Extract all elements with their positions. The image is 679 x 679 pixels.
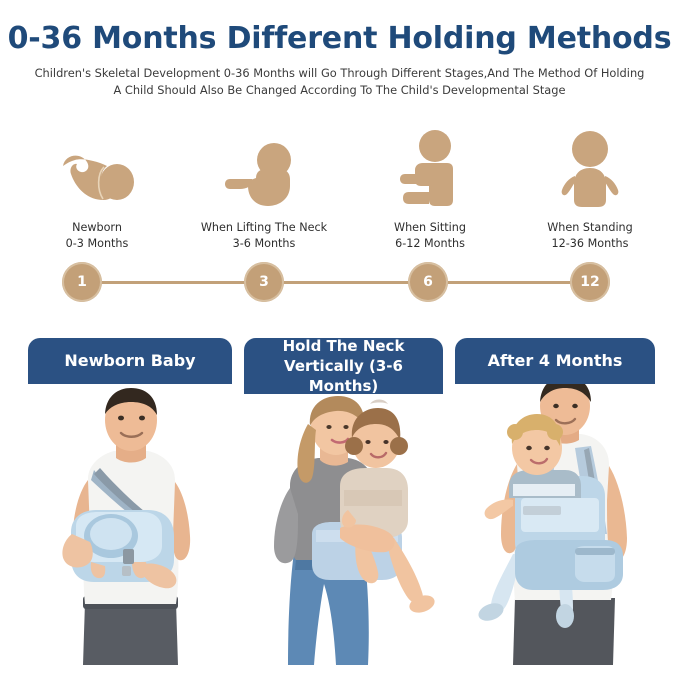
card-title-line2: Vertically (3-6 Months)	[284, 357, 403, 395]
card-hold-neck-vertically[interactable]: Hold The Neck Vertically (3-6 Months)	[244, 338, 443, 665]
stage-label: When Sitting 6-12 Months	[345, 220, 515, 251]
stage-label-line2: 6-12 Months	[395, 237, 465, 250]
stage-label-line2: 0-3 Months	[66, 237, 129, 250]
timeline-marker-6[interactable]: 6	[408, 262, 448, 302]
stage-lifting-neck: When Lifting The Neck 3-6 Months	[179, 132, 349, 251]
baby-standing-icon	[505, 132, 675, 208]
stage-sitting: When Sitting 6-12 Months	[345, 132, 515, 251]
stage-label-line1: When Lifting The Neck	[201, 221, 327, 234]
stage-label-line1: When Standing	[547, 221, 633, 234]
stage-label-line2: 12-36 Months	[552, 237, 629, 250]
baby-lifting-head-icon	[179, 132, 349, 208]
stage-label-line1: When Sitting	[394, 221, 466, 234]
father-holding-newborn-in-sling-carrier-photo	[28, 384, 232, 665]
stage-label-line2: 3-6 Months	[233, 237, 296, 250]
page-subtitle: Children's Skeletal Development 0-36 Mon…	[31, 56, 649, 99]
stage-label: Newborn 0-3 Months	[12, 220, 182, 251]
card-newborn-baby[interactable]: Newborn Baby	[28, 338, 232, 665]
timeline-marker-12[interactable]: 12	[570, 262, 610, 302]
infographic-header: 0-36 Months Different Holding Methods Ch…	[0, 0, 679, 99]
stage-label: When Lifting The Neck 3-6 Months	[179, 220, 349, 251]
stage-label-line1: Newborn	[72, 221, 122, 234]
baby-sitting-icon	[345, 132, 515, 208]
timeline-track	[82, 281, 590, 284]
mother-holding-toddler-on-hip-seat-photo	[244, 394, 443, 665]
timeline-marker-1[interactable]: 1	[62, 262, 102, 302]
father-wearing-front-carrier-with-hip-seat-photo	[455, 384, 655, 665]
card-title-line1: Hold The Neck	[283, 337, 405, 355]
age-timeline: 1 3 6 12	[0, 262, 679, 302]
card-title-after-4-months: After 4 Months	[455, 338, 655, 384]
card-title-hold-neck-vertically: Hold The Neck Vertically (3-6 Months)	[244, 338, 443, 394]
card-title-newborn-baby: Newborn Baby	[28, 338, 232, 384]
stage-newborn: Newborn 0-3 Months	[12, 132, 182, 251]
page-title: 0-36 Months Different Holding Methods	[0, 0, 679, 56]
stage-standing: When Standing 12-36 Months	[505, 132, 675, 251]
stage-label: When Standing 12-36 Months	[505, 220, 675, 251]
card-after-4-months[interactable]: After 4 Months	[455, 338, 655, 665]
baby-lying-newborn-icon	[12, 132, 182, 208]
timeline-marker-3[interactable]: 3	[244, 262, 284, 302]
